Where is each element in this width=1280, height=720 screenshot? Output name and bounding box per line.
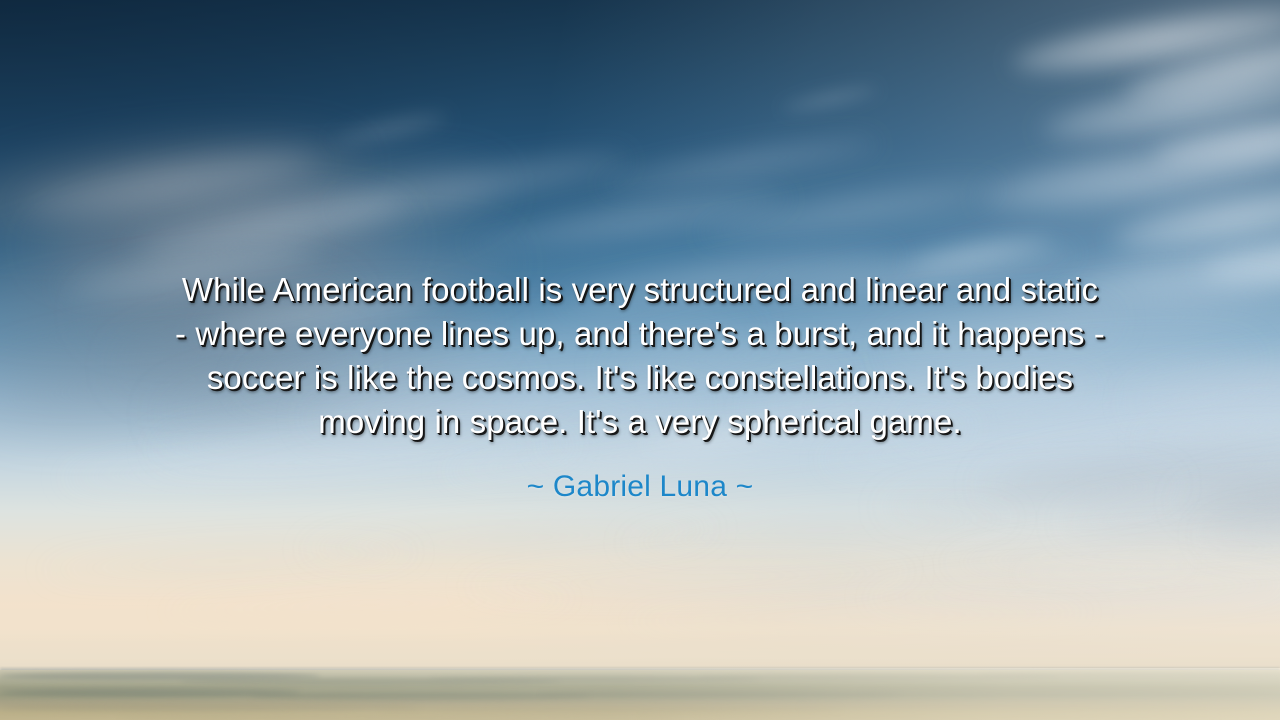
- quote-text-block: While American football is very structur…: [0, 268, 1280, 444]
- land-haze-overlay: [0, 668, 1280, 720]
- attribution-author: ~ Gabriel Luna ~: [527, 470, 754, 503]
- quote-line-3: soccer is like the cosmos. It's like con…: [0, 356, 1280, 400]
- quote-image-canvas: While American football is very structur…: [0, 0, 1280, 720]
- quote-line-2: - where everyone lines up, and there's a…: [0, 312, 1280, 356]
- attribution-block: ~ Gabriel Luna ~: [0, 468, 1280, 506]
- quote-line-4: moving in space. It's a very spherical g…: [0, 400, 1280, 444]
- quote-line-1: While American football is very structur…: [0, 268, 1280, 312]
